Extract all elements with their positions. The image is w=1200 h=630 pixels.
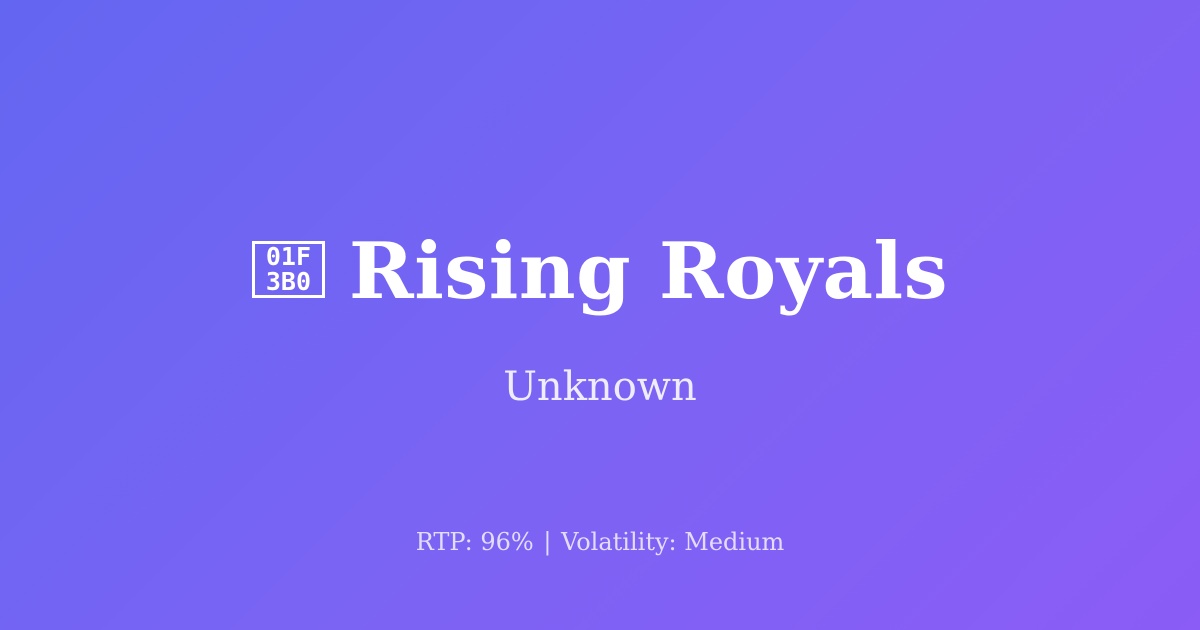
slot-machine-icon: 01F 3B0 [252,241,325,298]
codepoint-row-bottom: 3B0 [266,269,311,294]
game-provider-subtitle: Unknown [0,363,1200,411]
volatility-label: Volatility: [561,528,677,556]
volatility-value: Medium [684,528,784,556]
page-title: Rising Royals [349,228,948,316]
meta-separator: | [541,528,553,556]
rtp-label: RTP: [416,528,473,556]
title-row: 01F 3B0 Rising Royals [0,228,1200,316]
card-content: 01F 3B0 Rising Royals Unknown RTP: 96% |… [0,0,1200,630]
rtp-value: 96% [480,528,533,556]
codepoint-row-top: 01F [266,244,311,269]
og-share-card: 01F 3B0 Rising Royals Unknown RTP: 96% |… [0,0,1200,630]
game-meta-line: RTP: 96% | Volatility: Medium [0,527,1200,557]
